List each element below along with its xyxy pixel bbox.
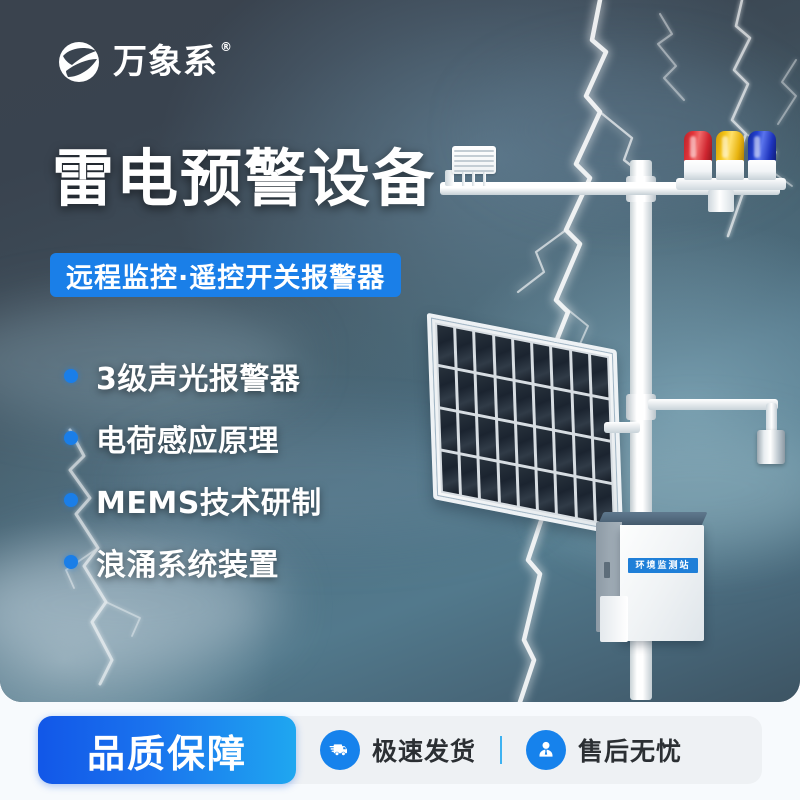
footer-divider (500, 736, 502, 764)
hero-product-image: 环境监测站 万象系 ® 雷电预警设备 远程监控·遥控开关报警器 (0, 0, 800, 702)
after-sales-label: 售后无忧 (578, 732, 682, 768)
bullet-dot-icon (64, 369, 78, 383)
control-box-lower-housing (600, 596, 628, 642)
globe-swoosh-logo-icon (57, 40, 101, 84)
radiation-shield-sensor (452, 146, 496, 174)
fast-shipping-item[interactable]: 极速发货 (296, 730, 500, 770)
bullet-dot-icon (64, 493, 78, 507)
feature-item: 电荷感应原理 (64, 407, 444, 469)
fast-shipping-label: 极速发货 (372, 732, 476, 768)
feature-item: MEMS技术研制 (64, 469, 444, 531)
service-guarantee-bar: 品质保障 极速发货 (0, 702, 800, 800)
delivery-truck-icon (320, 730, 360, 770)
blue-beacon-base (748, 160, 776, 180)
support-agent-icon (526, 730, 566, 770)
brand-logo: 万象系 ® (57, 40, 218, 84)
quality-guarantee-badge[interactable]: 品质保障 (38, 716, 296, 784)
beacon-highlight (690, 136, 696, 158)
yellow-beacon-base (716, 160, 744, 180)
page-title: 雷电预警设备 (52, 148, 436, 210)
feature-label: 3级声光报警器 (96, 354, 300, 398)
monitoring-control-box: 环境监测站 (596, 512, 704, 638)
bullet-dot-icon (64, 555, 78, 569)
beacon-junction-box (708, 190, 734, 212)
feature-label: 电荷感应原理 (96, 416, 279, 460)
bullet-dot-icon (64, 431, 78, 445)
product-promo-page: 环境监测站 万象系 ® 雷电预警设备 远程监控·遥控开关报警器 (0, 0, 800, 800)
beacon-highlight (754, 136, 760, 158)
solar-cell-grid (435, 322, 615, 526)
brand-name-text: 万象系 (113, 42, 218, 82)
control-box-vent (604, 562, 610, 578)
station-label: 环境监测站 (628, 558, 698, 573)
feature-label: MEMS技术研制 (96, 478, 322, 522)
solar-panel-mount-arm (604, 422, 640, 433)
service-bar-inner: 品质保障 极速发货 (38, 716, 762, 784)
brand-name: 万象系 ® (113, 45, 218, 79)
subtitle-badge: 远程监控·遥控开关报警器 (50, 253, 401, 297)
beacon-highlight (722, 136, 728, 158)
camera-support-arm (648, 399, 778, 410)
camera-sensor (757, 430, 785, 464)
solar-panel (430, 332, 620, 517)
control-box-face (620, 525, 704, 641)
sensor-support-legs (460, 172, 488, 186)
feature-item: 3级声光报警器 (64, 345, 444, 407)
feature-list: 3级声光报警器 电荷感应原理 MEMS技术研制 浪涌系统装置 (64, 345, 444, 593)
after-sales-item[interactable]: 售后无忧 (502, 730, 706, 770)
red-beacon-base (684, 160, 712, 180)
feature-label: 浪涌系统装置 (96, 540, 279, 584)
feature-item: 浪涌系统装置 (64, 531, 444, 593)
registered-trademark-icon: ® (220, 41, 233, 53)
